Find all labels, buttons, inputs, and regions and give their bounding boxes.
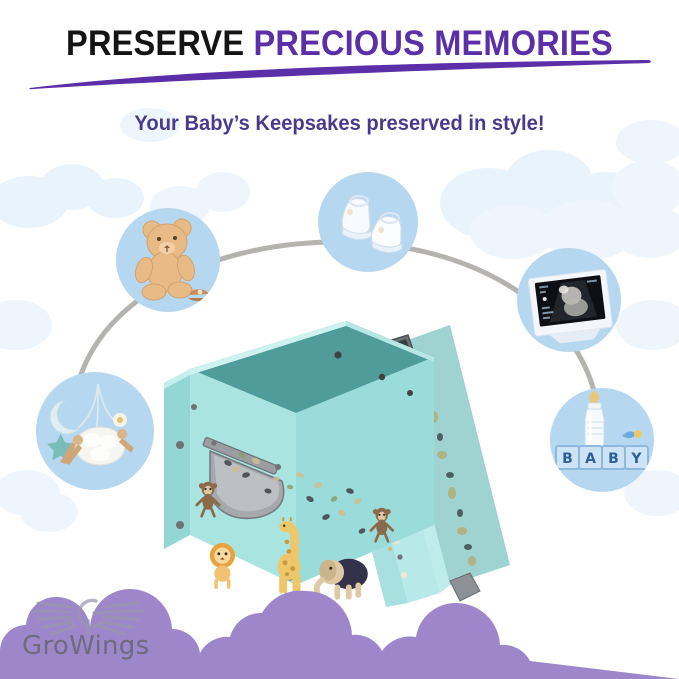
badge-crib-mobile[interactable] (36, 372, 154, 490)
headline-underline-swoosh (28, 58, 653, 90)
product-keepsake-box (150, 285, 570, 615)
promo-image: PRESERVE PRECIOUS MEMORIES Your Baby’s K… (0, 0, 679, 679)
badge-baby-shoes[interactable] (318, 172, 418, 272)
svg-text:B: B (608, 451, 619, 467)
svg-text:Y: Y (630, 451, 642, 467)
winged-g-icon (34, 600, 142, 634)
page-subtitle: Your Baby’s Keepsakes preserved in style… (14, 112, 666, 136)
brand-logo-text: GroWings (22, 631, 149, 661)
svg-text:A: A (585, 451, 596, 467)
